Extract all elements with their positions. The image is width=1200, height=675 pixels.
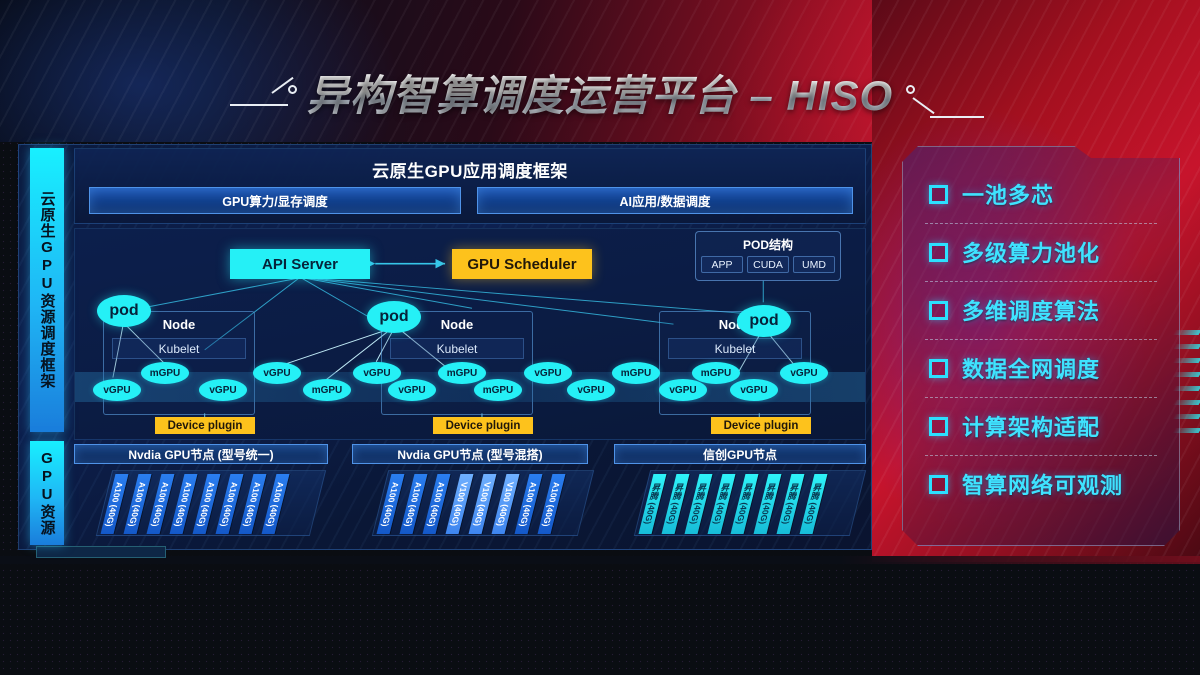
device-plugin-1[interactable]: Device plugin xyxy=(155,417,255,434)
feature-card: 一池多芯多级算力池化多维调度算法数据全网调度计算架构适配智算网络可观测 xyxy=(902,146,1180,546)
slide-stage: 异构智算调度运营平台 – HISO 云原生GPU资源调度框架 GPU资源 云原生… xyxy=(0,0,1200,675)
gpu-chip-vgpu-6[interactable]: vGPU xyxy=(388,379,436,401)
pod-structure-title: POD结构 xyxy=(696,236,840,253)
sidebar-tab-gpu-resource[interactable]: GPU资源 xyxy=(30,441,64,545)
gpu-chip-mgpu-11[interactable]: mGPU xyxy=(612,362,660,384)
device-plugin-2[interactable]: Device plugin xyxy=(433,417,533,434)
pod-cell-app: APP xyxy=(701,256,743,273)
gpu-scheduler-node[interactable]: GPU Scheduler xyxy=(452,249,592,279)
kubelet-3: Kubelet xyxy=(668,338,802,359)
pod-cell-umd: UMD xyxy=(793,256,835,273)
feature-item-5[interactable]: 计算架构适配 xyxy=(903,397,1179,455)
device-plugin-3[interactable]: Device plugin xyxy=(711,417,811,434)
gpu-chip-vgpu-12[interactable]: vGPU xyxy=(659,379,707,401)
feature-label: 一池多芯 xyxy=(962,178,1054,210)
gpu-chip-mgpu-1[interactable]: mGPU xyxy=(141,362,189,384)
pill-ai-data-scheduling[interactable]: AI应用/数据调度 xyxy=(477,187,853,214)
feature-item-2[interactable]: 多级算力池化 xyxy=(903,223,1179,281)
checkbox-icon[interactable] xyxy=(929,185,948,204)
kubelet-1: Kubelet xyxy=(112,338,246,359)
sidebar-tab-framework[interactable]: 云原生GPU资源调度框架 xyxy=(30,148,64,432)
checkbox-icon[interactable] xyxy=(929,359,948,378)
bottom-left-tab xyxy=(36,546,166,558)
gpu-chip-vgpu-2[interactable]: vGPU xyxy=(199,379,247,401)
feature-item-1[interactable]: 一池多芯 xyxy=(903,165,1179,223)
gpu-chip-mgpu-13[interactable]: mGPU xyxy=(692,362,740,384)
scheduling-graph-panel: API Server GPU Scheduler POD结构 APP CUDA … xyxy=(74,228,866,440)
gpu-chip-vgpu-14[interactable]: vGPU xyxy=(730,379,778,401)
pod-2[interactable]: pod xyxy=(367,301,421,333)
gpu-node-header-1[interactable]: Nvdia GPU节点 (型号统一) xyxy=(74,444,328,464)
checkbox-icon[interactable] xyxy=(929,475,948,494)
api-server-node[interactable]: API Server xyxy=(230,249,370,279)
decorative-hash-marks xyxy=(1174,330,1200,460)
checkbox-icon[interactable] xyxy=(929,417,948,436)
checkbox-icon[interactable] xyxy=(929,301,948,320)
gpu-resource-panel: Nvdia GPU节点 (型号统一)A100 (40G)A100 (40G)A1… xyxy=(74,444,866,544)
framework-panel-title: 云原生GPU应用调度框架 xyxy=(75,157,865,182)
gpu-chip-vgpu-10[interactable]: vGPU xyxy=(567,379,615,401)
feature-label: 智算网络可观测 xyxy=(962,468,1123,500)
gpu-node-header-3[interactable]: 信创GPU节点 xyxy=(614,444,866,464)
pill-gpu-compute-scheduling[interactable]: GPU算力/显存调度 xyxy=(89,187,461,214)
feature-item-3[interactable]: 多维调度算法 xyxy=(903,281,1179,339)
page-title: 异构智算调度运营平台 – HISO xyxy=(0,62,1200,123)
pod-structure-cells: APP CUDA UMD xyxy=(696,253,840,273)
bottom-edge-strip xyxy=(0,556,1200,564)
feature-list: 一池多芯多级算力池化多维调度算法数据全网调度计算架构适配智算网络可观测 xyxy=(903,147,1179,545)
pod-structure-card: POD结构 APP CUDA UMD xyxy=(695,231,841,281)
feature-item-6[interactable]: 智算网络可观测 xyxy=(903,455,1179,513)
feature-label: 计算架构适配 xyxy=(962,410,1100,442)
feature-label: 数据全网调度 xyxy=(962,352,1100,384)
gpu-chip-mgpu-8[interactable]: mGPU xyxy=(474,379,522,401)
gpu-chip-vgpu-0[interactable]: vGPU xyxy=(93,379,141,401)
gpu-chip-mgpu-7[interactable]: mGPU xyxy=(438,362,486,384)
feature-label: 多维调度算法 xyxy=(962,294,1100,326)
framework-header-panel: 云原生GPU应用调度框架 GPU算力/显存调度 AI应用/数据调度 xyxy=(74,148,866,224)
gpu-chip-vgpu-9[interactable]: vGPU xyxy=(524,362,572,384)
pod-1[interactable]: pod xyxy=(97,295,151,327)
gpu-chip-vgpu-3[interactable]: vGPU xyxy=(253,362,301,384)
gpu-chip-vgpu-15[interactable]: vGPU xyxy=(780,362,828,384)
feature-label: 多级算力池化 xyxy=(962,236,1100,268)
feature-item-4[interactable]: 数据全网调度 xyxy=(903,339,1179,397)
kubelet-2: Kubelet xyxy=(390,338,524,359)
gpu-chip-vgpu-5[interactable]: vGPU xyxy=(353,362,401,384)
pod-3[interactable]: pod xyxy=(737,305,791,337)
gpu-node-header-2[interactable]: Nvdia GPU节点 (型号混搭) xyxy=(352,444,588,464)
gpu-chip-mgpu-4[interactable]: mGPU xyxy=(303,379,351,401)
pod-cell-cuda: CUDA xyxy=(747,256,789,273)
checkbox-icon[interactable] xyxy=(929,243,948,262)
